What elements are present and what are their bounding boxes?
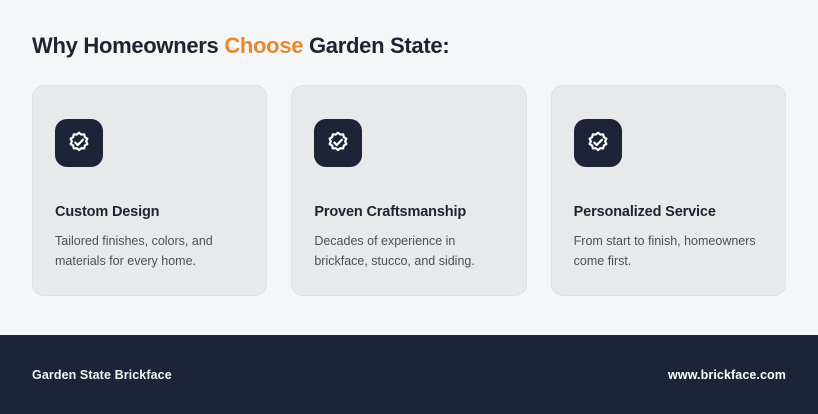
heading-section: Why Homeowners Choose Garden State: [0, 0, 818, 60]
feature-card-list: Custom Design Tailored finishes, colors,… [0, 60, 818, 296]
feature-card[interactable]: Proven Craftsmanship Decades of experien… [291, 85, 526, 296]
feature-card-title: Custom Design [55, 202, 244, 222]
page-title-part2: Garden State: [303, 33, 449, 58]
footer-company-name: Garden State Brickface [32, 368, 172, 382]
footer-bar: Garden State Brickface www.brickface.com [0, 335, 818, 414]
footer-website-link[interactable]: www.brickface.com [668, 368, 786, 382]
feature-card-title: Proven Craftsmanship [314, 202, 503, 222]
feature-card-title: Personalized Service [574, 202, 763, 222]
feature-card-description: Tailored finishes, colors, and materials… [55, 231, 240, 271]
page-title-accent: Choose [224, 33, 303, 58]
badge-check-icon [55, 119, 103, 167]
feature-card-description: From start to finish, homeowners come fi… [574, 231, 759, 271]
feature-card-description: Decades of experience in brickface, stuc… [314, 231, 499, 271]
feature-card[interactable]: Custom Design Tailored finishes, colors,… [32, 85, 267, 296]
marketing-slide: Why Homeowners Choose Garden State: Cust… [0, 0, 818, 414]
feature-card[interactable]: Personalized Service From start to finis… [551, 85, 786, 296]
page-title-part1: Why Homeowners [32, 33, 224, 58]
badge-check-icon [574, 119, 622, 167]
page-title: Why Homeowners Choose Garden State: [32, 32, 786, 60]
badge-check-icon [314, 119, 362, 167]
